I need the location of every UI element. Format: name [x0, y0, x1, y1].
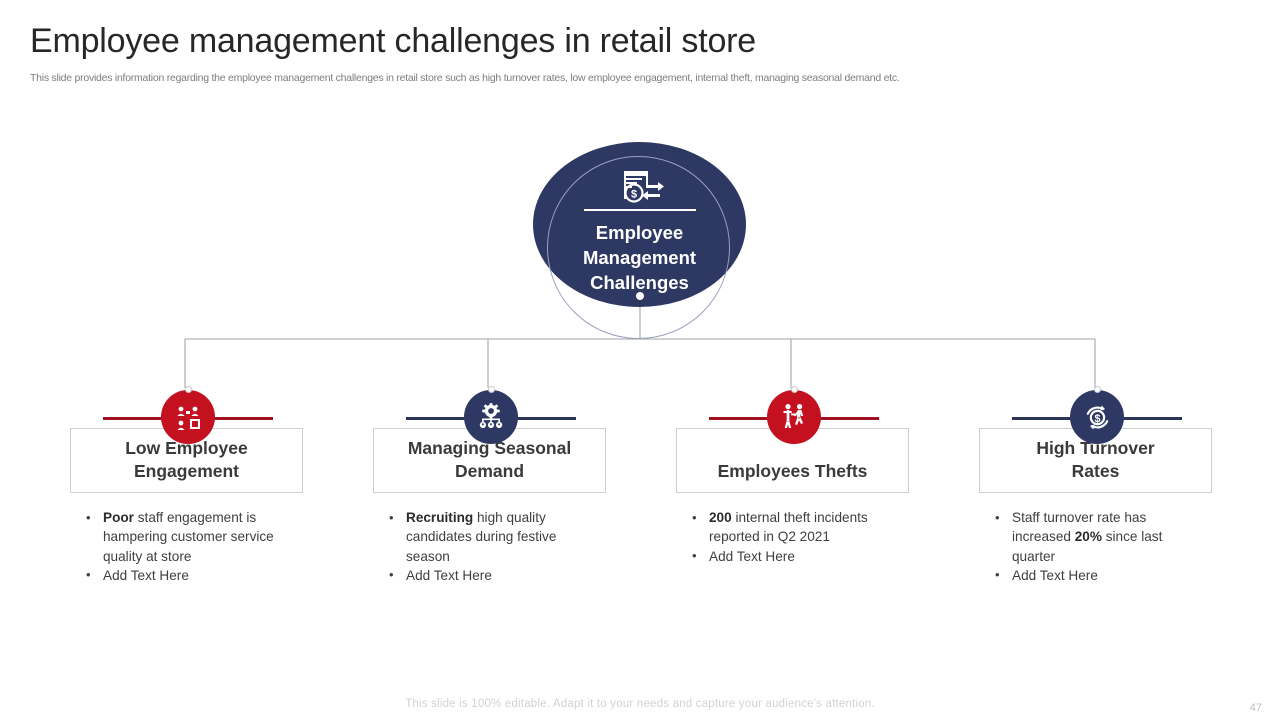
- list-item: 200 internal theft incidents reported in…: [688, 508, 903, 547]
- branch-title-line-1: Employees Thefts: [718, 460, 868, 483]
- center-label-line-2: Management: [583, 245, 696, 270]
- bullet-emphasis: Recruiting: [406, 510, 473, 525]
- branch-bullet-list: Poor staff engagement is hampering custo…: [82, 508, 297, 585]
- branch-title: Employees Thefts: [718, 460, 868, 483]
- list-item: Add Text Here: [82, 566, 297, 585]
- bullet-text: Add Text Here: [406, 568, 492, 583]
- two-people-theft-icon[interactable]: [767, 390, 821, 444]
- list-item: Recruiting high quality candidates durin…: [385, 508, 600, 566]
- center-label-line-1: Employee: [583, 220, 696, 245]
- branch-pin: [791, 386, 798, 393]
- list-item: Add Text Here: [385, 566, 600, 585]
- center-node-pin: [636, 292, 644, 300]
- branch-bullet-list: 200 internal theft incidents reported in…: [688, 508, 903, 566]
- dollar-refresh-cycle-icon[interactable]: $: [1070, 390, 1124, 444]
- branch-title-line-2: Rates: [1036, 460, 1154, 483]
- org-chart-diagram: $ Employee Management Challenges: [0, 0, 1280, 720]
- branch-title-line-2: Engagement: [125, 460, 248, 483]
- bullet-text: Add Text Here: [1012, 568, 1098, 583]
- center-icon-divider: [584, 209, 696, 211]
- svg-text:$: $: [1094, 412, 1100, 424]
- branch-bullet-list: Recruiting high quality candidates durin…: [385, 508, 600, 585]
- bullet-text: Add Text Here: [103, 568, 189, 583]
- branch-bullet-list: Staff turnover rate has increased 20% si…: [991, 508, 1206, 585]
- list-item: Add Text Here: [688, 547, 903, 566]
- center-node-label: Employee Management Challenges: [583, 220, 696, 295]
- bullet-emphasis: 20%: [1075, 529, 1102, 544]
- branch-pin: [185, 386, 192, 393]
- branch-pin: [1094, 386, 1101, 393]
- page-number: 47: [1250, 702, 1262, 714]
- people-network-icon[interactable]: [161, 390, 215, 444]
- svg-text:$: $: [630, 189, 636, 201]
- branch-title-line-2: Demand: [408, 460, 571, 483]
- gear-hierarchy-icon[interactable]: [464, 390, 518, 444]
- connector-lines: [0, 0, 1280, 720]
- list-item: Add Text Here: [991, 566, 1206, 585]
- bullet-text: internal theft incidents reported in Q2 …: [709, 510, 868, 544]
- bullet-emphasis: Poor: [103, 510, 134, 525]
- bullet-emphasis: 200: [709, 510, 732, 525]
- bullet-text: Add Text Here: [709, 549, 795, 564]
- list-item: Staff turnover rate has increased 20% si…: [991, 508, 1206, 566]
- footer-note: This slide is 100% editable. Adapt it to…: [0, 698, 1280, 710]
- invoice-dollar-payment-icon: $: [610, 168, 670, 208]
- branch-pin: [488, 386, 495, 393]
- center-node[interactable]: $ Employee Management Challenges: [533, 142, 746, 307]
- list-item: Poor staff engagement is hampering custo…: [82, 508, 297, 566]
